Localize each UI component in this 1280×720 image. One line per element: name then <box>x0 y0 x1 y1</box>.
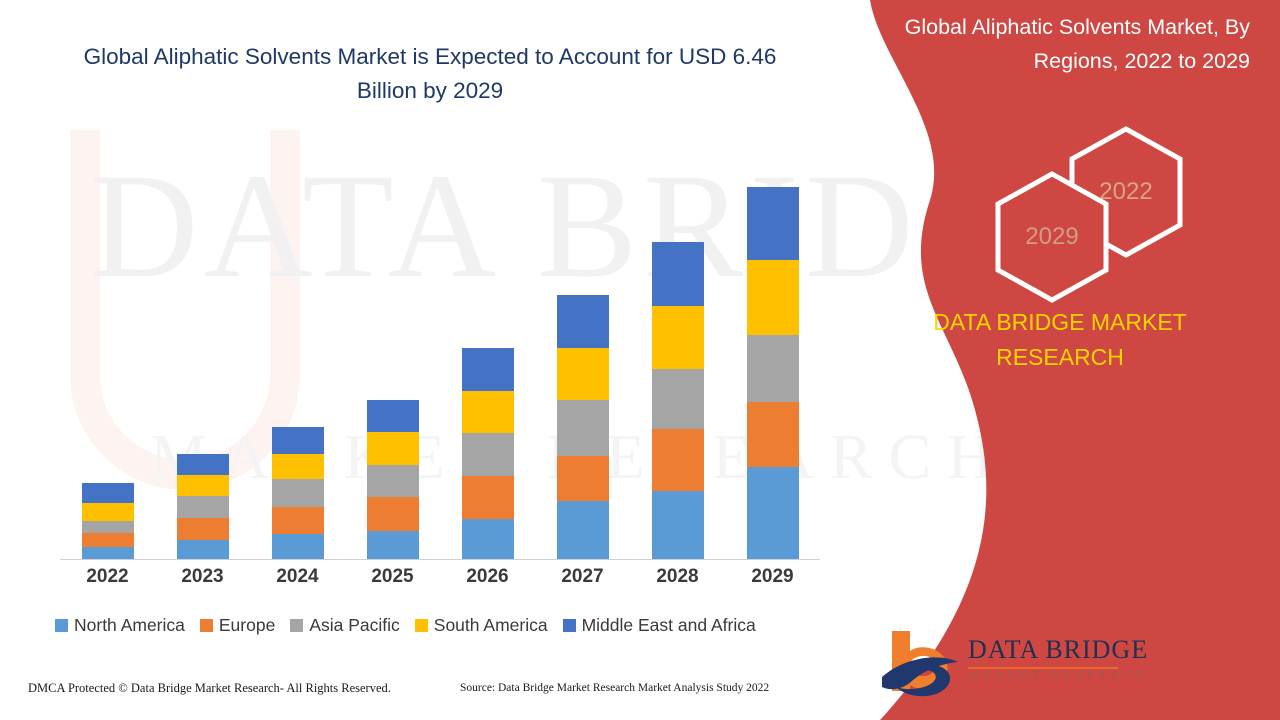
legend-label: South America <box>434 615 548 636</box>
logo-name-sub: MARKET RESEARCH <box>969 670 1148 681</box>
legend-label: Asia Pacific <box>309 615 399 636</box>
bar-segment[interactable] <box>557 501 609 559</box>
bar-group-2025[interactable] <box>367 400 419 559</box>
bar-segment[interactable] <box>272 454 324 479</box>
source-note: Source: Data Bridge Market Research Mark… <box>460 682 769 694</box>
legend-swatch-icon <box>563 619 576 632</box>
bar-segment[interactable] <box>462 348 514 391</box>
bar-segment[interactable] <box>272 507 324 534</box>
bar-group-2029[interactable] <box>747 187 799 559</box>
bar-segment[interactable] <box>272 534 324 559</box>
bar-segment[interactable] <box>557 348 609 400</box>
bar-segment[interactable] <box>367 531 419 559</box>
bar-segment[interactable] <box>747 402 799 467</box>
x-tick-label: 2026 <box>448 566 528 588</box>
bar-segment[interactable] <box>557 295 609 348</box>
bar-segment[interactable] <box>557 400 609 456</box>
bar-segment[interactable] <box>462 433 514 476</box>
bar-segment[interactable] <box>747 335 799 402</box>
bar-segment[interactable] <box>82 533 134 547</box>
data-bridge-logo: DATA BRIDGE MARKET RESEARCH <box>880 625 1180 700</box>
hexagon-badges: 2022 2029 <box>945 125 1235 300</box>
brand-name: DATA BRIDGE MARKET RESEARCH <box>860 305 1260 375</box>
chart-title: Global Aliphatic Solvents Market is Expe… <box>60 40 800 108</box>
bar-segment[interactable] <box>652 491 704 559</box>
logo-name-main: DATA BRIDGE <box>968 635 1148 665</box>
bar-segment[interactable] <box>177 518 229 540</box>
legend-item[interactable]: Europe <box>200 615 275 636</box>
legend-item[interactable]: Asia Pacific <box>290 615 399 636</box>
bar-segment[interactable] <box>272 427 324 454</box>
hexagon-2029-label: 2029 <box>993 170 1111 304</box>
bar-segment[interactable] <box>747 187 799 260</box>
x-tick-label: 2022 <box>68 566 148 588</box>
bar-segment[interactable] <box>82 483 134 503</box>
legend-item[interactable]: Middle East and Africa <box>563 615 756 636</box>
x-tick-label: 2025 <box>353 566 433 588</box>
bar-segment[interactable] <box>747 467 799 559</box>
bar-group-2023[interactable] <box>177 454 229 559</box>
hexagon-2029: 2029 <box>993 170 1111 304</box>
bar-group-2024[interactable] <box>272 427 324 559</box>
bar-group-2028[interactable] <box>652 242 704 559</box>
x-tick-label: 2024 <box>258 566 338 588</box>
bar-segment[interactable] <box>82 521 134 533</box>
bar-group-2027[interactable] <box>557 295 609 559</box>
x-tick-label: 2029 <box>733 566 813 588</box>
legend-swatch-icon <box>415 619 428 632</box>
bar-segment[interactable] <box>652 306 704 369</box>
bar-segment[interactable] <box>462 391 514 433</box>
brand-line-1: DATA BRIDGE MARKET <box>860 305 1260 340</box>
bar-group-2022[interactable] <box>82 483 134 559</box>
bar-segment[interactable] <box>177 540 229 559</box>
legend-swatch-icon <box>290 619 303 632</box>
bar-segment[interactable] <box>272 479 324 507</box>
x-axis-line <box>60 559 820 560</box>
bar-segment[interactable] <box>652 242 704 306</box>
bar-segment[interactable] <box>367 465 419 497</box>
logo-divider <box>968 667 1118 669</box>
legend-item[interactable]: North America <box>55 615 185 636</box>
legend-swatch-icon <box>55 619 68 632</box>
x-tick-label: 2028 <box>638 566 718 588</box>
brand-line-2: RESEARCH <box>860 340 1260 375</box>
bar-segment[interactable] <box>177 454 229 475</box>
right-red-panel: Global Aliphatic Solvents Market, By Reg… <box>840 0 1280 720</box>
x-axis-labels: 20222023202420252026202720282029 <box>60 566 820 596</box>
chart-legend: North AmericaEuropeAsia PacificSouth Ame… <box>55 615 835 636</box>
copyright-notice: DMCA Protected © Data Bridge Market Rese… <box>28 681 391 696</box>
bar-segment[interactable] <box>747 260 799 335</box>
bar-segment[interactable] <box>367 400 419 432</box>
bar-segment[interactable] <box>652 369 704 429</box>
chart-plot-area <box>60 150 820 560</box>
x-tick-label: 2027 <box>543 566 623 588</box>
bar-segment[interactable] <box>367 432 419 465</box>
infographic-slide: DATA BRIDGE MARKET RESEARCH Global Aliph… <box>0 0 1280 720</box>
bar-segment[interactable] <box>367 497 419 531</box>
legend-item[interactable]: South America <box>415 615 548 636</box>
bar-segment[interactable] <box>177 496 229 518</box>
bar-segment[interactable] <box>652 429 704 491</box>
bar-group-2026[interactable] <box>462 348 514 559</box>
bar-segment[interactable] <box>462 476 514 519</box>
bar-segment[interactable] <box>557 456 609 501</box>
bar-segment[interactable] <box>462 519 514 559</box>
legend-label: Europe <box>219 615 275 636</box>
x-tick-label: 2023 <box>163 566 243 588</box>
bar-segment[interactable] <box>82 547 134 559</box>
panel-title: Global Aliphatic Solvents Market, By Reg… <box>870 10 1250 78</box>
legend-label: Middle East and Africa <box>582 615 756 636</box>
legend-label: North America <box>74 615 185 636</box>
legend-swatch-icon <box>200 619 213 632</box>
bar-segment[interactable] <box>177 475 229 496</box>
bar-segment[interactable] <box>82 503 134 521</box>
